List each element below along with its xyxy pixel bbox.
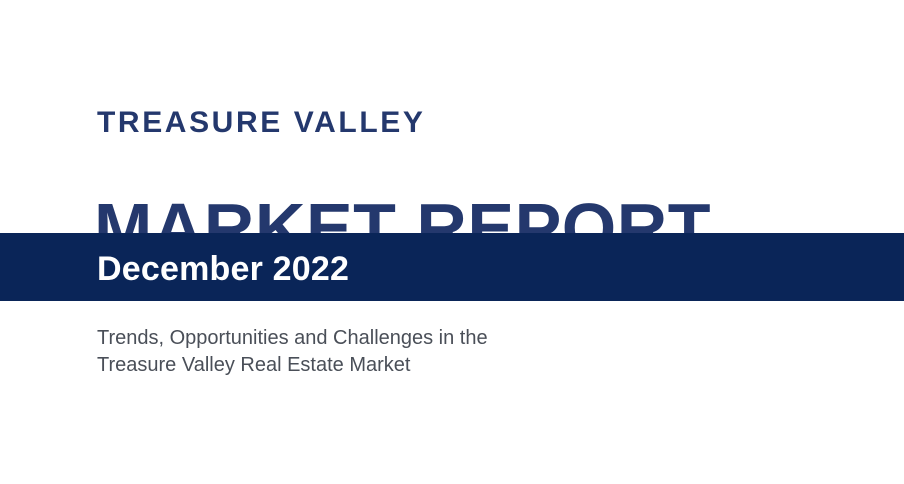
report-subtitle: Trends, Opportunities and Challenges in …	[97, 325, 657, 379]
report-kicker: TREASURE VALLEY	[97, 108, 425, 138]
report-cover-page: TREASURE VALLEY MARKET REPORT December 2…	[0, 0, 904, 484]
date-banner-label: December 2022	[97, 252, 349, 286]
subtitle-line-1: Trends, Opportunities and Challenges in …	[97, 325, 657, 352]
subtitle-line-2: Treasure Valley Real Estate Market	[97, 352, 657, 379]
date-banner: December 2022	[0, 233, 904, 301]
